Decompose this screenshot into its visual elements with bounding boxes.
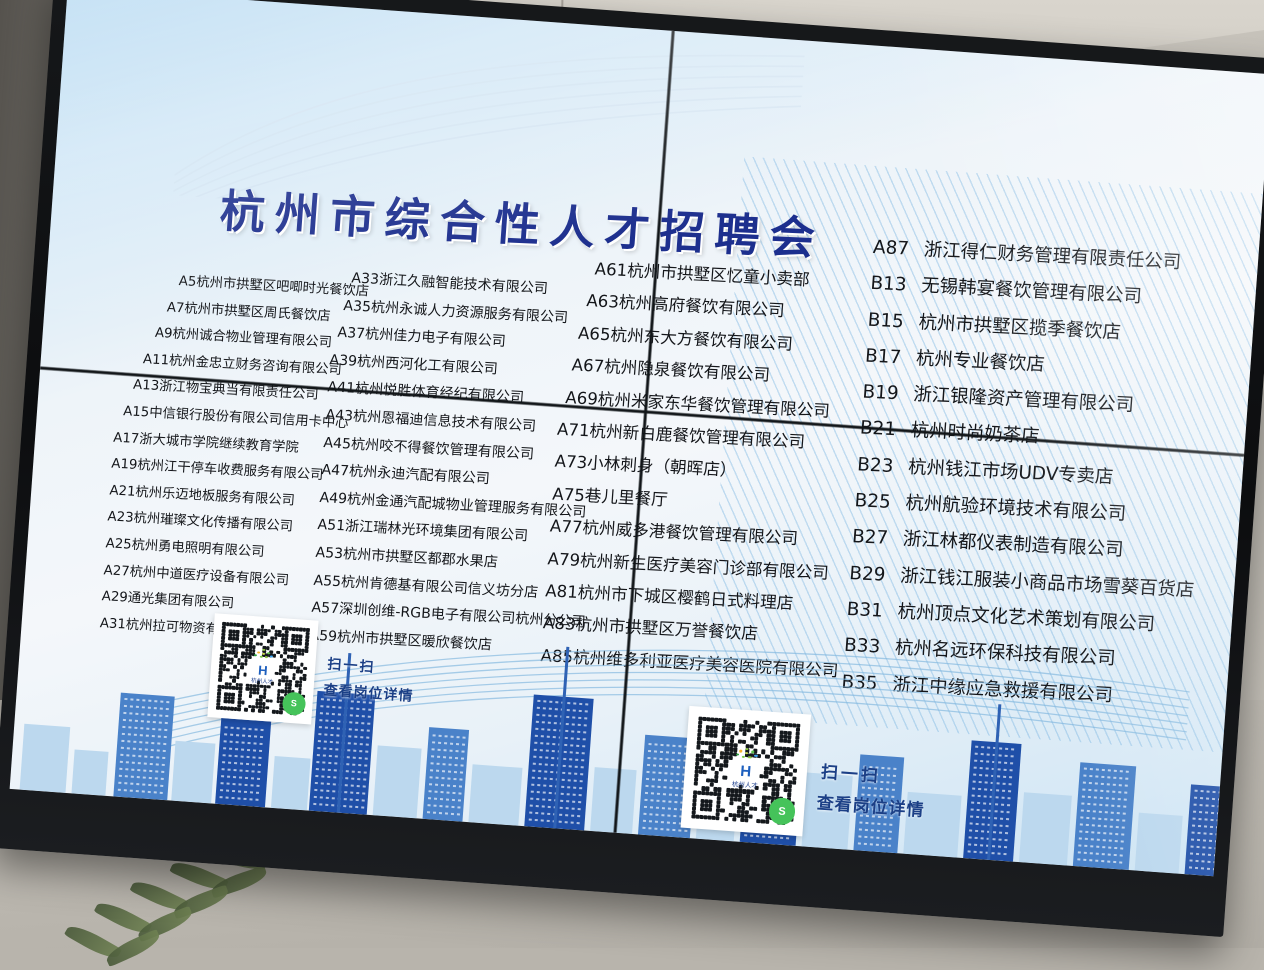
company-name: 浙大城市学院继续教育学院 <box>139 432 299 456</box>
booth-code: A23 <box>107 510 134 526</box>
company-name: 浙江得仁财务管理有限责任公司 <box>917 239 1182 273</box>
company-name: 杭州江干停车收费服务有限公司 <box>137 458 324 483</box>
tree-icon <box>734 747 760 765</box>
booth-code: A21 <box>109 483 136 499</box>
booth-code: A73 <box>554 452 588 473</box>
booth-code: B23 <box>857 454 895 477</box>
scan-text-right-line1: 扫一扫 <box>820 758 882 787</box>
company-name: 杭州东大方餐饮有限公司 <box>610 325 794 353</box>
booth-code: A7 <box>166 300 185 316</box>
company-name: 杭州西河化工有限公司 <box>356 354 498 378</box>
qr-code-left[interactable]: H 杭州人才 S <box>207 613 318 724</box>
booth-code: B17 <box>864 345 902 368</box>
booth-code: A19 <box>111 457 138 473</box>
company-name: 小林刺身（朝晖店） <box>586 454 737 481</box>
qr-letter: H <box>740 764 752 780</box>
booth-code: A49 <box>319 490 348 507</box>
video-wall: 杭州市综合性人才招聘会 A5杭州市拱墅区吧唧时光餐饮店A7杭州市拱墅区周氏餐饮店… <box>0 0 1264 948</box>
booth-code: B19 <box>862 382 900 405</box>
company-name: 杭州市拱墅区揽季餐饮店 <box>912 312 1121 343</box>
booth-code: B25 <box>854 490 892 513</box>
booth-code: A65 <box>577 323 611 344</box>
booth-code: A37 <box>337 325 366 342</box>
company-name: 无锡韩宴餐饮管理有限公司 <box>915 275 1143 307</box>
company-name: 杭州高府餐饮有限公司 <box>618 293 785 320</box>
booth-code: A61 <box>594 259 628 280</box>
display-screen[interactable]: 杭州市综合性人才招聘会 A5杭州市拱墅区吧唧时光餐饮店A7杭州市拱墅区周氏餐饮店… <box>10 0 1264 876</box>
booth-code: A47 <box>321 462 350 479</box>
booth-code: A11 <box>143 352 170 368</box>
company-name: 浙江久融智能技术有限公司 <box>378 272 548 297</box>
booth-code: A43 <box>325 407 354 424</box>
company-name: 杭州新白鹿餐饮管理有限公司 <box>589 421 806 451</box>
qr-brand-label: 杭州人才 <box>251 676 274 686</box>
company-name: 杭州永迪汽配有限公司 <box>348 464 490 488</box>
company-name: 巷儿里餐厅 <box>584 486 668 509</box>
company-name: 杭州咬不得餐饮管理有限公司 <box>350 436 534 462</box>
company-name: 杭州市拱墅区周氏餐饮店 <box>184 301 331 324</box>
company-name: 杭州永诚人力资源服务有限公司 <box>370 299 568 326</box>
booth-code: B15 <box>867 309 905 332</box>
company-name: 杭州诚合物业管理有限公司 <box>172 327 332 351</box>
company-name: 浙江银隆资产管理有限公司 <box>907 384 1135 416</box>
booth-code: A63 <box>586 291 620 312</box>
company-name: 杭州佳力电子有限公司 <box>364 326 506 350</box>
booth-code: A39 <box>329 352 358 369</box>
booth-code: A9 <box>154 326 173 342</box>
company-name: 杭州金忠立财务咨询有限公司 <box>169 353 343 377</box>
company-name: 杭州威多港餐饮管理有限公司 <box>582 518 799 548</box>
tree-icon <box>253 648 275 664</box>
company-name: 杭州恩福迪信息技术有限公司 <box>352 409 536 435</box>
booth-code: A33 <box>351 270 380 287</box>
company-name: 浙江林都仪表制造有限公司 <box>896 529 1124 561</box>
qr-code-right[interactable]: H 杭州人才 S <box>681 706 812 837</box>
qr-logo: H 杭州人才 <box>724 746 768 790</box>
booth-code: A35 <box>343 298 372 315</box>
booth-code: A87 <box>872 237 909 260</box>
display-bezel: 杭州市综合性人才招聘会 A5杭州市拱墅区吧唧时光餐饮店A7杭州市拱墅区周氏餐饮店… <box>0 0 1264 937</box>
qr-brand-label: 杭州人才 <box>732 778 759 790</box>
company-name: 杭州钱江市场UDV专卖店 <box>902 456 1115 487</box>
booth-code: A15 <box>123 404 150 420</box>
booth-code: A13 <box>133 378 160 394</box>
booth-code: A51 <box>317 517 346 534</box>
company-name: 杭州专业餐饮店 <box>909 348 1045 376</box>
booth-code: A71 <box>556 420 590 441</box>
company-name: 中信银行股份有限公司信用卡中心 <box>149 406 349 432</box>
booth-code: A67 <box>571 356 605 377</box>
booth-code: A75 <box>552 484 586 505</box>
booth-code: A17 <box>113 430 140 446</box>
booth-code: B13 <box>870 273 908 296</box>
booth-code: A5 <box>178 274 197 290</box>
poster-content: 杭州市综合性人才招聘会 A5杭州市拱墅区吧唧时光餐饮店A7杭州市拱墅区周氏餐饮店… <box>10 0 1264 876</box>
company-name: 杭州隐泉餐饮有限公司 <box>604 357 771 384</box>
qr-letter: H <box>258 663 268 677</box>
booth-code: B27 <box>851 526 889 549</box>
company-name: 杭州航验环境技术有限公司 <box>899 493 1127 525</box>
company-name: 浙江瑞林光环境集团有限公司 <box>344 519 528 545</box>
booth-code: A45 <box>323 435 352 452</box>
qr-logo: H 杭州人才 <box>244 648 282 686</box>
booth-code: A77 <box>549 517 583 538</box>
company-name: 杭州乐迈地板服务有限公司 <box>135 485 295 509</box>
scan-text-left-line1: 扫一扫 <box>327 654 376 677</box>
